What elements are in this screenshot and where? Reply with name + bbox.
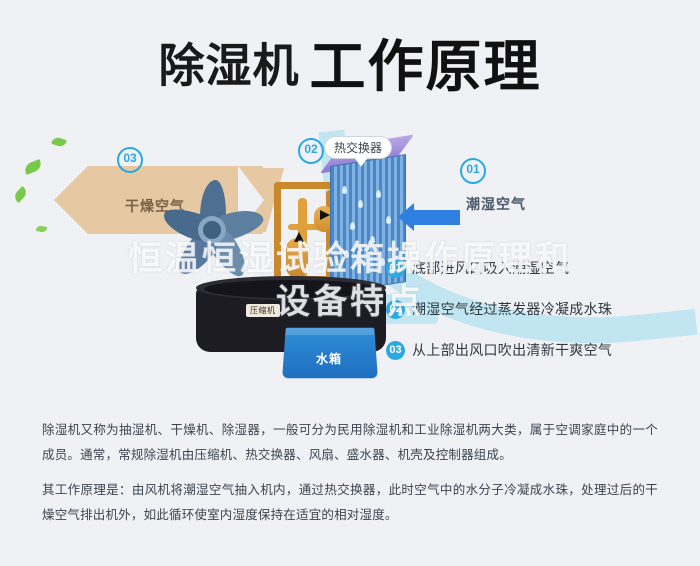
flow-arrow-up-icon [294, 232, 304, 242]
leaf-icon [51, 136, 67, 148]
fan-hub [198, 216, 226, 244]
badge-02: 02 [298, 138, 324, 164]
list-item: 01 底部进风口吸入潮湿空气 [386, 255, 686, 281]
title-part-1: 除湿机 [159, 40, 300, 92]
badge-03: 03 [117, 147, 143, 173]
fan-icon [152, 170, 270, 288]
water-droplet-icon [370, 236, 375, 244]
list-item: 03 从上部出风口吹出清新干爽空气 [386, 337, 686, 363]
water-droplet-icon [358, 200, 363, 208]
air-intake-arrow-icon [414, 210, 460, 225]
water-tank-label: 水箱 [316, 350, 342, 367]
step-text: 底部进风口吸入潮湿空气 [412, 258, 569, 278]
water-droplet-icon [342, 186, 347, 194]
water-droplet-icon [344, 250, 349, 258]
step-text: 潮湿空气经过蒸发器冷凝成水珠 [412, 299, 612, 319]
leaf-icon [35, 225, 47, 233]
water-droplet-icon [376, 190, 381, 198]
leaf-icon [12, 186, 29, 203]
water-droplet-icon [350, 222, 355, 230]
flow-arrow-right-icon [320, 210, 330, 220]
compressor-label: 压缩机 [246, 304, 280, 317]
process-step-list: 01 底部进风口吸入潮湿空气 02 潮湿空气经过蒸发器冷凝成水珠 03 从上部出… [386, 255, 686, 378]
description-paragraph-1: 除湿机又称为抽湿机、干燥机、除湿器，一般可分为民用除湿机和工业除湿机两大类，属于… [42, 418, 658, 468]
page-title: 除湿机工作原理 [0, 22, 700, 103]
step-number: 03 [386, 341, 405, 360]
step-number: 01 [386, 259, 405, 278]
list-item: 02 潮湿空气经过蒸发器冷凝成水珠 [386, 296, 686, 322]
receiver-tank [286, 238, 308, 278]
description-paragraph-2: 其工作原理是：由风机将潮湿空气抽入机内，通过热交换器，此时空气中的水分子冷凝成水… [42, 478, 658, 528]
water-droplet-icon [380, 258, 385, 266]
badge-01: 01 [460, 158, 486, 184]
moist-air-label: 潮湿空气 [466, 194, 526, 214]
step-text: 从上部出风口吹出清新干爽空气 [412, 340, 612, 360]
leaf-icon [23, 159, 43, 175]
infographic-page: 除湿机工作原理 干燥空气 [0, 0, 700, 566]
title-part-2: 工作原理 [310, 35, 542, 98]
water-droplet-icon [386, 216, 391, 224]
coil-pipe [274, 182, 334, 189]
step-number: 02 [386, 300, 405, 319]
heat-exchanger-callout: 热交换器 [324, 136, 392, 159]
machine-base-rim [204, 280, 378, 298]
